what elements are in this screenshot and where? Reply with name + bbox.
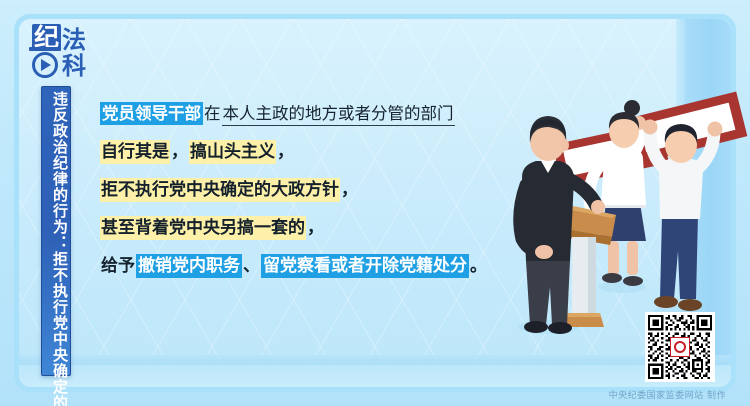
line2-comma-2: ， [276,141,295,163]
floor-base [19,365,731,387]
qr-code[interactable] [645,312,715,382]
line5-plain-1: 给予 [100,255,136,277]
qr-center-logo [670,337,690,357]
line2-yellow-highlight-2: 搞山头主义 [189,140,276,164]
line2-comma-1: ， [170,141,189,163]
logo-char-fa: 法 [62,28,86,52]
man-with-sign [643,120,723,318]
isometric-illustration [500,55,750,355]
vertical-banner-text: 违反政治纪律的行为：拒不执行党中央确定的大政方针 [42,87,70,375]
floor-line [19,355,731,365]
text-line-3: 拒不执行党中央确定的大政方针， [100,174,530,206]
line3-yellow-highlight: 拒不执行党中央确定的大政方针 [100,178,340,202]
line4-yellow-highlight: 甚至背着党中央另搞一套的 [100,216,306,240]
logo-char-ke: 科 [62,54,86,78]
regulation-text-block: 党员领导干部在本人主政的地方或者分管的部门 自行其是，搞山头主义， 拒不执行党中… [100,98,530,288]
line1-plain: 在 [203,103,222,124]
line5-separator: 、 [242,255,261,277]
play-triangle-icon [41,59,51,71]
qr-center-ring-icon [674,341,686,353]
logo-play-disc-icon [30,50,60,80]
brand-logo: 纪 法 科 [30,24,92,86]
line5-blue-highlight-2: 留党察看或者开除党籍处分 [261,254,469,278]
line5-blue-highlight-1: 撤销党内职务 [136,254,242,278]
logo-bar [29,47,61,51]
text-line-5: 给予撤销党内职务、留党察看或者开除党籍处分。 [100,250,530,282]
text-line-1: 党员领导干部在本人主政的地方或者分管的部门 [100,98,530,130]
vertical-title-banner: 违反政治纪律的行为：拒不执行党中央确定的大政方针 [41,86,71,376]
line3-comma: ， [340,179,359,201]
line5-period: 。 [469,255,488,277]
line1-blue-highlight: 党员领导干部 [100,102,203,125]
poster-root: 纪 法 科 违反政治纪律的行为：拒不执行党中央确定的大政方针 党员领导干部在本人… [0,0,750,406]
line4-comma: ， [306,217,325,239]
footer-credit: 中央纪委国家监委网站 制作 [609,388,726,401]
text-line-2: 自行其是，搞山头主义， [100,136,530,168]
line2-yellow-highlight-1: 自行其是 [100,140,170,164]
text-line-4: 甚至背着党中央另搞一套的， [100,212,530,244]
line1-underlined: 本人主政的地方或者分管的部门 [222,103,455,126]
